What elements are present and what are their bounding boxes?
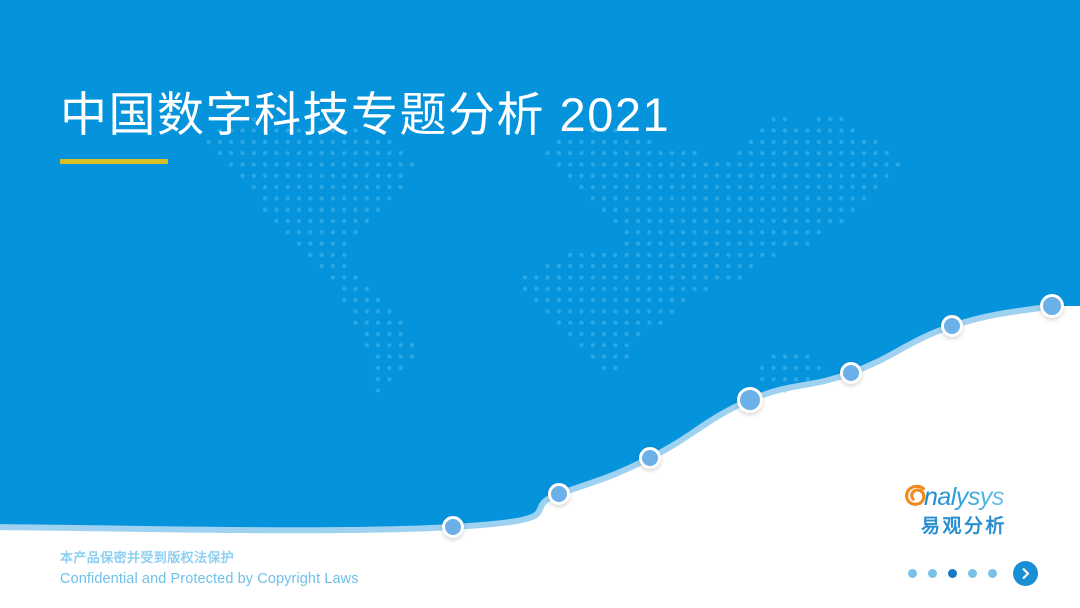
title-underline-accent: [60, 159, 168, 164]
chevron-right-icon: [1018, 566, 1033, 581]
data-point-marker-2: [548, 483, 570, 505]
data-point-marker-7: [1040, 294, 1064, 318]
copyright-notice-english: Confidential and Protected by Copyright …: [60, 568, 359, 590]
page-dot-3[interactable]: [948, 569, 957, 578]
data-point-marker-6: [941, 315, 963, 337]
data-point-marker-3: [639, 447, 661, 469]
copyright-notice-chinese: 本产品保密并受到版权法保护: [60, 548, 359, 568]
next-slide-button[interactable]: [1013, 561, 1038, 586]
logo-wordmark: nalysys: [903, 480, 1025, 512]
analysys-logo: nalysys 易观分析: [903, 480, 1025, 538]
page-dot-1[interactable]: [908, 569, 917, 578]
page-dot-4[interactable]: [968, 569, 977, 578]
pagination[interactable]: [908, 561, 1038, 586]
page-dot-2[interactable]: [928, 569, 937, 578]
logo-wordmark-svg: nalysys: [903, 480, 1025, 512]
page-title: 中国数字科技专题分析 2021: [60, 86, 940, 145]
logo-subtitle-chinese: 易观分析: [903, 511, 1025, 538]
svg-text:nalysys: nalysys: [924, 483, 1004, 511]
page-dot-5[interactable]: [988, 569, 997, 578]
data-point-marker-4: [737, 387, 763, 413]
copyright-notice: 本产品保密并受到版权法保护 Confidential and Protected…: [60, 548, 359, 590]
data-point-marker-5: [840, 362, 862, 384]
logo-spiral-a-icon: [907, 486, 924, 504]
presentation-cover-slide: 中国数字科技专题分析 2021 本产品保密并受到版权法保护 Confidenti…: [0, 0, 1080, 608]
title-block: 中国数字科技专题分析 2021: [60, 86, 940, 164]
data-point-marker-1: [442, 516, 464, 538]
